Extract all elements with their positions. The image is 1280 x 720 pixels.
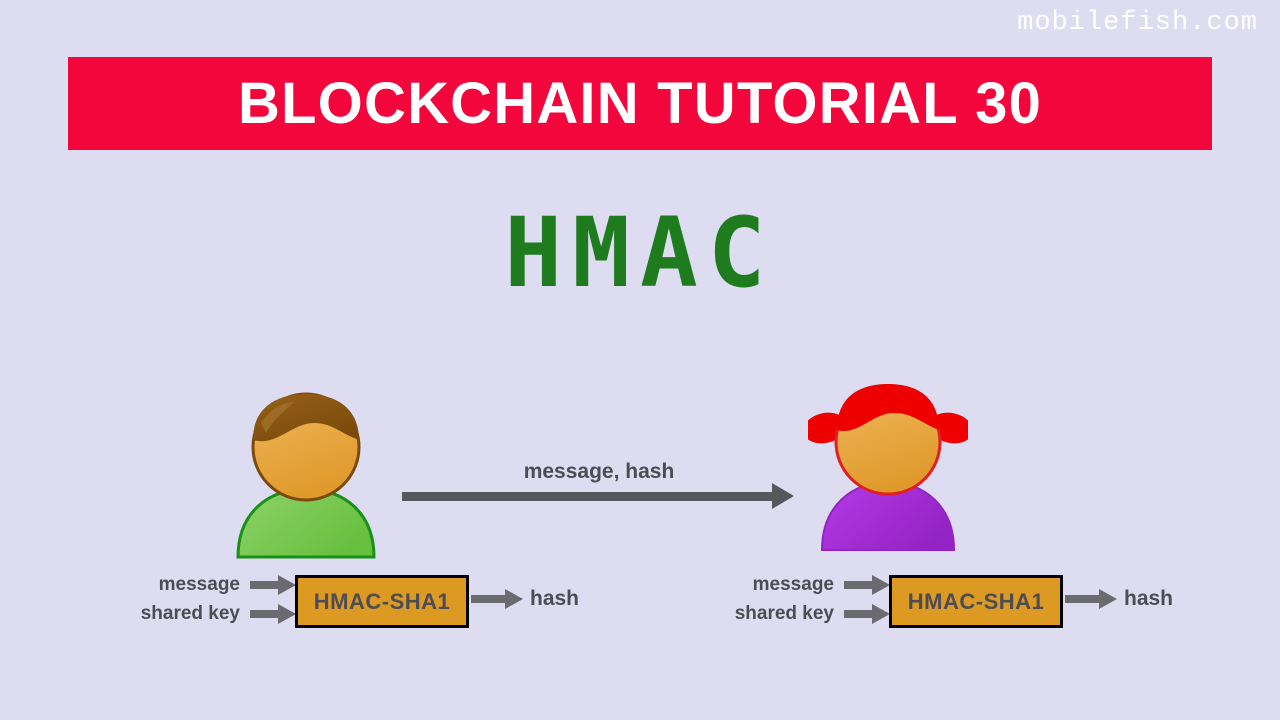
- sender-output-arrow-icon: [471, 595, 527, 603]
- sender-hmac-box: HMAC-SHA1: [295, 575, 469, 628]
- receiver-output-hash: hash: [1124, 587, 1173, 611]
- sender-hmac-box-label: HMAC-SHA1: [314, 589, 451, 615]
- sender-input-labels: message shared key: [118, 570, 240, 628]
- male-user-avatar: [228, 385, 388, 560]
- transmission-arrow-shaft: [402, 492, 774, 501]
- headline-hmac: HMAC: [0, 205, 1280, 301]
- receiver-input-labels: message shared key: [712, 570, 834, 628]
- transmission-label: message, hash: [404, 460, 794, 484]
- sender-input-shared-key: shared key: [118, 599, 240, 628]
- site-watermark: mobilefish.com: [1017, 8, 1258, 38]
- receiver-input-shared-key: shared key: [712, 599, 834, 628]
- sender-shared-key-arrow-icon: [250, 610, 295, 618]
- receiver-input-message: message: [712, 570, 834, 599]
- receiver-output-arrow-icon: [1065, 595, 1121, 603]
- sender-output-hash: hash: [530, 587, 579, 611]
- title-banner: BLOCKCHAIN TUTORIAL 30: [68, 57, 1212, 150]
- receiver-hmac-box-label: HMAC-SHA1: [908, 589, 1045, 615]
- receiver-hmac-box: HMAC-SHA1: [889, 575, 1063, 628]
- slide-canvas: mobilefish.com BLOCKCHAIN TUTORIAL 30 HM…: [0, 0, 1280, 720]
- sender-input-message: message: [118, 570, 240, 599]
- receiver-message-arrow-icon: [844, 581, 889, 589]
- sender-message-arrow-icon: [250, 581, 295, 589]
- transmission-arrow-head: [772, 483, 794, 509]
- receiver-shared-key-arrow-icon: [844, 610, 889, 618]
- female-user-avatar: [808, 378, 968, 553]
- page-title: BLOCKCHAIN TUTORIAL 30: [238, 75, 1042, 133]
